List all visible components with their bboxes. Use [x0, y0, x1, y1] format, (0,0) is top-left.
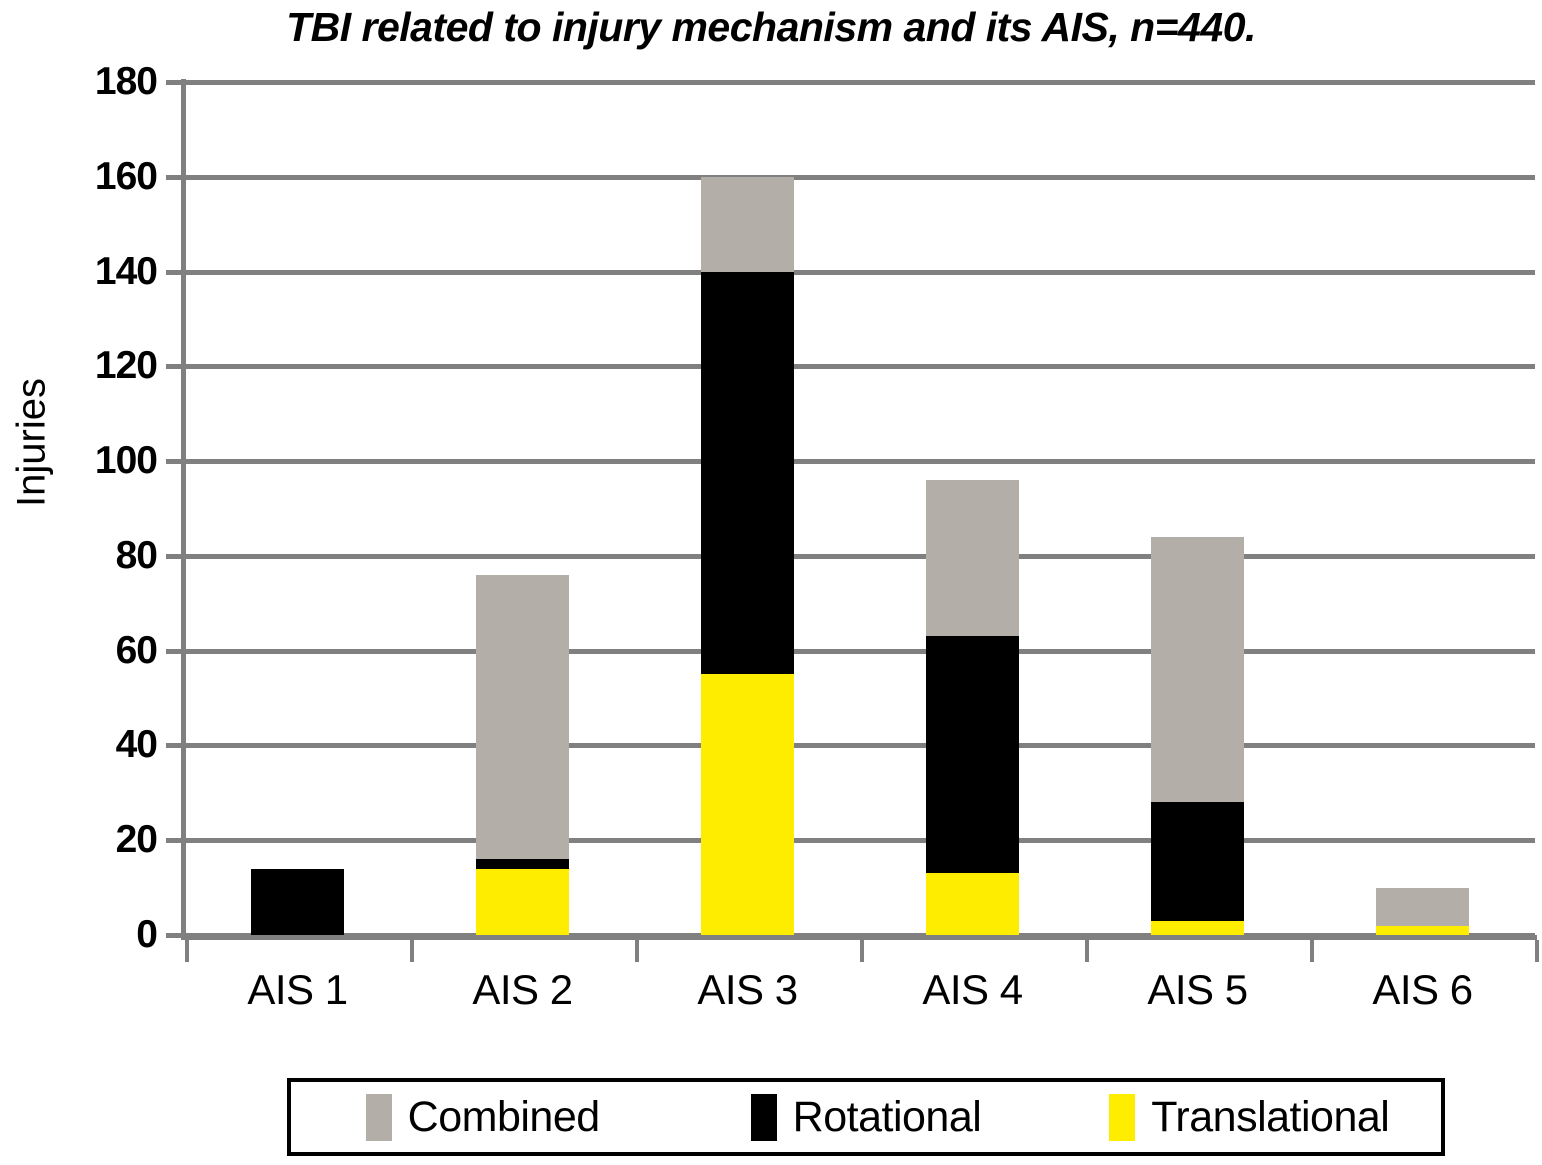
bar-segment-rotational[interactable]	[476, 859, 569, 868]
bar-segment-combined[interactable]	[1151, 537, 1244, 802]
legend-label: Translational	[1151, 1093, 1389, 1142]
bar-segment-rotational[interactable]	[701, 272, 794, 675]
x-axis-tick-label: AIS 1	[185, 966, 410, 1014]
stacked-bar[interactable]	[1376, 888, 1469, 935]
bar-segment-combined[interactable]	[701, 177, 794, 272]
bar-segment-translational[interactable]	[476, 869, 569, 935]
x-axis-tick	[1535, 940, 1539, 962]
legend-item-combined[interactable]: Combined	[291, 1093, 674, 1142]
y-axis-tick-label: 20	[17, 818, 157, 862]
bar-group[interactable]	[410, 82, 635, 935]
bar-group[interactable]	[1310, 82, 1535, 935]
y-axis-tick-label: 120	[17, 344, 157, 388]
x-axis-tick	[635, 940, 639, 962]
stacked-bar[interactable]	[1151, 537, 1244, 935]
bar-segment-translational[interactable]	[926, 873, 1019, 935]
stacked-bar[interactable]	[476, 575, 569, 935]
legend-swatch-icon	[751, 1094, 777, 1141]
y-axis-tick-label: 80	[17, 534, 157, 578]
bar-segment-translational[interactable]	[1151, 921, 1244, 935]
y-axis-tick-label: 180	[17, 60, 157, 104]
y-axis-tick-label: 60	[17, 629, 157, 673]
bar-segment-combined[interactable]	[1376, 888, 1469, 926]
legend-label: Rotational	[793, 1093, 982, 1142]
x-axis-tick-label: AIS 5	[1085, 966, 1310, 1014]
x-axis-tick-label: AIS 2	[410, 966, 635, 1014]
x-axis-tick-label: AIS 6	[1310, 966, 1535, 1014]
legend-swatch-icon	[1109, 1094, 1135, 1141]
bar-segment-rotational[interactable]	[1151, 802, 1244, 920]
x-axis-tick	[410, 940, 414, 962]
x-axis-tick	[1085, 940, 1089, 962]
bar-segment-combined[interactable]	[476, 575, 569, 859]
bar-segment-translational[interactable]	[1376, 926, 1469, 935]
bar-segment-rotational[interactable]	[251, 869, 344, 935]
legend-item-translational[interactable]: Translational	[1058, 1093, 1441, 1142]
plot-area	[185, 82, 1535, 935]
bar-group[interactable]	[185, 82, 410, 935]
chart-container: TBI related to injury mechanism and its …	[0, 0, 1542, 1165]
y-axis-tick-label: 160	[17, 155, 157, 199]
bar-segment-rotational[interactable]	[926, 636, 1019, 873]
bar-group[interactable]	[1085, 82, 1310, 935]
bar-segment-translational[interactable]	[701, 674, 794, 935]
x-axis-tick-label: AIS 4	[860, 966, 1085, 1014]
bar-group[interactable]	[635, 82, 860, 935]
chart-title: TBI related to injury mechanism and its …	[0, 4, 1542, 51]
stacked-bar[interactable]	[251, 869, 344, 935]
stacked-bar[interactable]	[926, 480, 1019, 935]
bar-group[interactable]	[860, 82, 1085, 935]
legend-label: Combined	[408, 1093, 600, 1142]
legend-item-rotational[interactable]: Rotational	[674, 1093, 1057, 1142]
stacked-bar[interactable]	[701, 177, 794, 935]
x-axis-line	[181, 935, 1537, 940]
x-axis-tick	[1310, 940, 1314, 962]
y-axis-tick-label: 40	[17, 723, 157, 767]
y-axis-tick-label: 100	[17, 439, 157, 483]
x-axis-tick-label: AIS 3	[635, 966, 860, 1014]
x-axis-tick	[860, 940, 864, 962]
chart-legend: CombinedRotationalTranslational	[287, 1078, 1445, 1156]
bar-segment-combined[interactable]	[926, 480, 1019, 636]
y-axis-tick-label: 140	[17, 250, 157, 294]
x-axis-tick	[185, 940, 189, 962]
y-axis-tick-label: 0	[17, 913, 157, 957]
legend-swatch-icon	[366, 1094, 392, 1141]
